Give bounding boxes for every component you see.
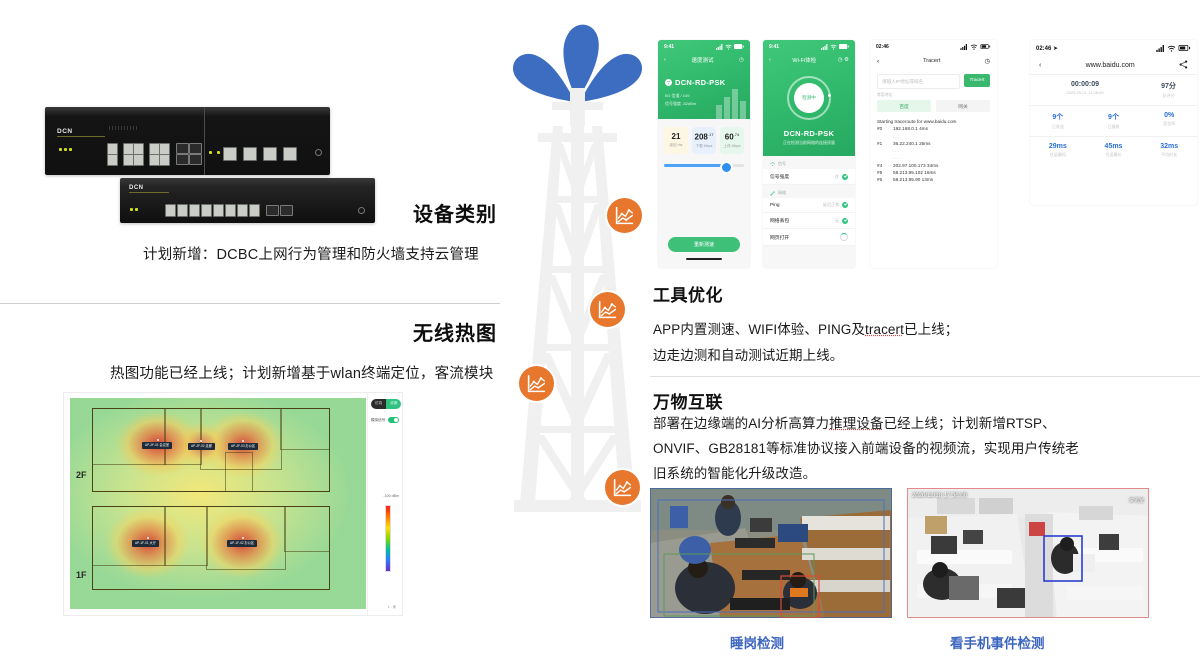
- chart-badge-icon-3: [519, 366, 554, 401]
- location-arrow-icon: ➤: [1053, 46, 1058, 52]
- photo-caption-sleep: 睡岗检测: [730, 632, 784, 652]
- section-title-wireless-heatmap: 无线热图: [413, 317, 497, 346]
- cell-value: 9个: [1032, 112, 1084, 122]
- row-value: 延迟正常: [823, 202, 839, 208]
- decorative-bars-icon: [716, 89, 746, 119]
- battery-icon: [734, 44, 744, 49]
- floor-label-2f: 2F: [76, 470, 87, 480]
- section-title-tools: 工具优化: [653, 281, 723, 306]
- slider-knob[interactable]: [720, 161, 733, 174]
- webtest-cell: 97分 总评分: [1140, 75, 1197, 105]
- status-icons: [1156, 45, 1191, 52]
- home-indicator: [686, 258, 723, 260]
- check-icon: [842, 202, 848, 208]
- hop-index: [877, 147, 888, 154]
- tools-line1-b: 已上线；: [904, 322, 958, 337]
- hop-text: ...: [893, 133, 900, 140]
- webtest-metrics-grid: 00:00:09 2023-09-21 14:26:09 97分 总评分 9个 …: [1030, 74, 1197, 164]
- cell-label: 2023-09-21 14:26:09: [1032, 90, 1138, 95]
- speedtest-progress-slider[interactable]: [664, 164, 744, 167]
- device-photo-firewall: DCN: [45, 107, 330, 175]
- signal-icon: [960, 44, 968, 50]
- wifi-icon: [725, 44, 732, 50]
- heatmap-legend-bar: [385, 505, 391, 572]
- status-bar: 02:46: [870, 40, 997, 53]
- cell-label: 往返最短: [1032, 152, 1084, 158]
- iot-line1-b: 已经上线；计划新增RTSP、: [884, 416, 1056, 431]
- office-cctv-image-2: [907, 488, 1149, 618]
- webtest-row: 29ms 往返最短 45ms 往返最长 32ms 平均时长: [1030, 136, 1197, 164]
- webtest-cell: 29ms 往返最短: [1030, 137, 1086, 164]
- cell-label: 已发送: [1032, 124, 1084, 130]
- battery-icon: [1178, 45, 1191, 51]
- tracert-run-button[interactable]: Tracert: [964, 74, 990, 87]
- floor-label-1f: 1F: [76, 570, 87, 580]
- right-divider: [650, 376, 1200, 377]
- signal-icon: [821, 44, 828, 50]
- webtest-row: 00:00:09 2023-09-21 14:26:09 97分 总评分: [1030, 74, 1197, 105]
- back-icon[interactable]: ‹: [1039, 62, 1041, 69]
- cell-label: 总评分: [1142, 93, 1195, 99]
- ring-status-text: 检测中: [794, 83, 824, 113]
- tracert-hop: ...: [877, 133, 990, 140]
- row-label: 网页打开: [770, 234, 789, 241]
- section-paragraph-device-category: 计划新增：DCBC上网行为管理和防火墙支持云管理: [143, 243, 479, 264]
- office-cctv-image-1: [650, 488, 892, 618]
- hop-text: ...: [893, 147, 900, 154]
- photo-caption-phone: 看手机事件检测: [950, 632, 1045, 652]
- history-icon[interactable]: ◷: [739, 57, 744, 63]
- link-small-icon: [770, 191, 775, 196]
- battery-icon: [839, 44, 849, 49]
- status-time: 02:46: [876, 44, 889, 50]
- status-icons: [960, 44, 991, 50]
- tracert-host-input[interactable]: 请输入IP地址或域名: [877, 74, 960, 89]
- chart-badge-icon-2: [590, 292, 625, 327]
- ap-tag: AP-1F-02 办公区: [227, 540, 257, 547]
- tools-line-2: 边走边测和自动测试近期上线。: [653, 344, 843, 364]
- status-time: 9:41: [769, 44, 779, 50]
- tracert-preset-tabs: 百度 网关: [877, 100, 990, 112]
- right-column: 9:41 ‹ 速度测试 ◷: [645, 0, 1200, 656]
- heatmap-screenshot: 2F AP-2F-01 会议室 AP-2F-02 走廊 AP-2F-03 办公区…: [63, 392, 403, 616]
- tracert-preset-label: 常用地址: [877, 93, 990, 98]
- history-icon[interactable]: ◷: [984, 57, 990, 65]
- iot-line1-a: 部署在边缘端的AI分析高算力: [653, 416, 829, 431]
- webtest-cell: 9个 已发送: [1030, 106, 1086, 136]
- signal-icon: [1156, 45, 1165, 52]
- share-icon[interactable]: [1179, 60, 1188, 71]
- back-icon[interactable]: ‹: [664, 57, 666, 63]
- cell-value: 45ms: [1088, 143, 1140, 150]
- row-label: 信号强度: [770, 173, 789, 180]
- metric-label: 上传 Mbps: [722, 144, 742, 149]
- heatmap-paragraph-text: 热图功能已经上线；计划新增基于wlan终端定位，客流模块: [110, 366, 493, 382]
- heatmap-signal-switch[interactable]: [388, 417, 399, 423]
- webtest-cell: 45ms 往返最长: [1086, 137, 1142, 164]
- hop-text: 58.213.95.102 16ms: [893, 169, 936, 176]
- wifi-icon: [1167, 45, 1176, 52]
- speedtest-title: 速度测试: [692, 56, 714, 64]
- photo-sleep-detection: [650, 488, 892, 618]
- webtest-cell: 32ms 平均时长: [1141, 137, 1197, 164]
- experience-row: 网络丢包 无: [763, 213, 855, 229]
- heatmap-sidebar: 仿真 实测 模拟信号 -100 dBm 1 : 米: [367, 393, 402, 615]
- status-icons: [821, 44, 849, 50]
- tracert-hop: ...: [877, 154, 990, 161]
- signal-icon: [716, 44, 723, 50]
- speedtest-navbar: ‹ 速度测试 ◷: [658, 53, 750, 67]
- tracert-preset-gateway[interactable]: 网关: [936, 100, 990, 112]
- wifi-badge-icon: [665, 73, 672, 91]
- heatmap-mode-simulated[interactable]: 仿真: [371, 399, 386, 409]
- row-value: 无: [835, 218, 839, 224]
- heatmap-legend-top-label: -100 dBm: [383, 494, 399, 498]
- heatmap-mode-toggle[interactable]: 仿真 实测: [371, 399, 401, 409]
- status-bar: 9:41: [763, 40, 855, 53]
- heatmap-canvas: 2F AP-2F-01 会议室 AP-2F-02 走廊 AP-2F-03 办公区…: [70, 398, 366, 609]
- group-label: 网络: [778, 190, 786, 196]
- hop-index: #5: [877, 169, 888, 176]
- hop-index: #4: [877, 162, 888, 169]
- row-label: Ping: [770, 203, 780, 208]
- battery-icon: [980, 44, 991, 49]
- tools-line1-link: tracert: [865, 322, 904, 337]
- tracert-log: Starting traceroute for www.baidu.com #0…: [877, 118, 990, 184]
- experience-progress-ring: 检测中: [763, 67, 855, 129]
- hop-text: 192.168.0.1 4ms: [893, 125, 928, 132]
- back-icon[interactable]: ‹: [877, 58, 879, 65]
- row-value: 优: [835, 174, 839, 180]
- speedtest-metric-cards: 21 延迟 ms 208.17 下载 Mbps 60.74 上传 Mbps: [658, 119, 750, 158]
- row-label: 网络丢包: [770, 217, 789, 224]
- experience-row: Ping 延迟正常: [763, 198, 855, 213]
- webtest-cell: 9个 已接收: [1086, 106, 1142, 136]
- device-photo-switch: DCN: [120, 178, 375, 223]
- metric-label: 下载 Mbps: [694, 144, 714, 149]
- hop-index: [877, 133, 888, 140]
- device2-brand-label: DCN: [129, 185, 144, 191]
- hop-text: ...: [893, 154, 900, 161]
- hop-text: 202.97.100.173 34ms: [893, 162, 938, 169]
- phone-web-test: 02:46 ➤ ‹ www.baidu.com: [1030, 40, 1197, 205]
- heatmap-signal-switch-label: 模拟信号: [371, 418, 385, 423]
- tracert-navbar: ‹ Tracert ◷: [870, 53, 997, 69]
- metric-label: 延迟 ms: [666, 143, 686, 148]
- left-column: DCN: [0, 0, 620, 656]
- speedtest-ssid: DCN-RD-PSK: [675, 78, 726, 87]
- left-divider: [0, 303, 500, 304]
- phone-mockups-row: 9:41 ‹ 速度测试 ◷: [650, 40, 1200, 268]
- tracert-hop: #4202.97.100.173 34ms: [877, 162, 990, 169]
- slide-root: DCN: [0, 0, 1200, 656]
- device-brand-label: DCN: [57, 128, 73, 135]
- experience-row: 网页打开: [763, 229, 855, 246]
- ap-tag: AP-2F-02 走廊: [188, 443, 215, 450]
- hop-index: #1: [877, 140, 888, 147]
- cell-value: 32ms: [1143, 143, 1195, 150]
- tracert-hop: #0192.168.0.1 4ms: [877, 125, 990, 132]
- webtest-row: 9个 已发送 9个 已接收 0% 丢包率: [1030, 105, 1197, 136]
- experience-header: 9:41 ‹ Wi-Fi体检 ◷ ⚙ 检测中: [763, 40, 855, 156]
- wifi-icon: [830, 44, 837, 50]
- section-title-iot: 万物互联: [653, 388, 723, 413]
- status-bar: 02:46 ➤: [1030, 40, 1197, 56]
- photo-timestamp: 2020/12/18 17:36:08: [912, 493, 967, 499]
- cell-value: 29ms: [1032, 143, 1084, 150]
- metric-card: 208.17 下载 Mbps: [692, 127, 716, 154]
- tools-line-1: APP内置测速、WIFI体验、PING及tracert已上线；: [653, 318, 958, 338]
- metric-card: 21 延迟 ms: [664, 127, 688, 154]
- metric-value: 208: [695, 133, 708, 142]
- back-icon[interactable]: ‹: [769, 57, 771, 63]
- webtest-navbar: ‹ www.baidu.com: [1030, 56, 1197, 74]
- hop-text: 36.22.240.1 26ms: [893, 140, 931, 147]
- speedtest-retest-button[interactable]: 重新测速: [668, 237, 740, 252]
- ap-tag: AP-2F-01 会议室: [142, 442, 172, 449]
- cell-value: 9个: [1088, 112, 1140, 122]
- hop-index: [877, 154, 888, 161]
- tracert-hop: #558.213.95.102 16ms: [877, 169, 990, 176]
- heatmap-scale-label: 1 : 米: [388, 604, 396, 609]
- phone-wifi-experience: 9:41 ‹ Wi-Fi体检 ◷ ⚙ 检测中: [763, 40, 855, 268]
- chart-badge-icon-1: [607, 198, 642, 233]
- experience-ssid: DCN-RD-PSK: [763, 129, 855, 138]
- wifi-icon: [970, 44, 978, 50]
- webtest-cell: 00:00:09 2023-09-21 14:26:09: [1030, 75, 1140, 105]
- metric-value: 60: [725, 133, 734, 142]
- group-label: 信号: [778, 161, 786, 167]
- speedtest-header: 9:41 ‹ 速度测试 ◷: [658, 40, 750, 119]
- check-icon: [842, 218, 848, 224]
- hop-index: #6: [877, 176, 888, 183]
- hop-index: #0: [877, 125, 888, 132]
- section-title-device-category: 设备类别: [413, 198, 497, 227]
- tracert-title: Tracert: [923, 58, 940, 64]
- phone-speedtest: 9:41 ‹ 速度测试 ◷: [658, 40, 750, 268]
- nav-actions[interactable]: ◷ ⚙: [838, 57, 849, 63]
- photo-corner-label: 资讯室: [1129, 497, 1144, 504]
- webtest-title: www.baidu.com: [1086, 62, 1135, 69]
- loading-icon: [840, 233, 848, 241]
- status-time: 9:41: [664, 44, 674, 50]
- iot-line1-link: 推理设备: [829, 416, 883, 431]
- metric-value: 21: [666, 132, 686, 141]
- cell-label: 往返最长: [1088, 152, 1140, 158]
- phone-tracert: 02:46 ‹ Tracert ◷ 请输入IP地址或域名 Tracert: [870, 40, 997, 268]
- cell-value: 97分: [1142, 81, 1195, 91]
- metric-unit: .17: [708, 132, 714, 137]
- tracert-hop: #658.213.95.90 13ms: [877, 176, 990, 183]
- cell-value: 0%: [1143, 112, 1195, 119]
- metric-card: 60.74 上传 Mbps: [720, 127, 744, 154]
- tools-line1-a: APP内置测速、WIFI体验、PING及: [653, 322, 865, 337]
- tracert-log-header: Starting traceroute for www.baidu.com: [877, 118, 990, 125]
- iot-line-1: 部署在边缘端的AI分析高算力推理设备已经上线；计划新增RTSP、: [653, 412, 1056, 432]
- photo-phone-usage-detection: 2020/12/18 17:36:08 资讯室: [907, 488, 1149, 618]
- hop-text: 58.213.95.90 13ms: [893, 176, 933, 183]
- status-time-location: 02:46 ➤: [1036, 45, 1058, 52]
- section-paragraph-wireless-heatmap: 热图功能已经上线；计划新增基于wlan终端定位，客流模块: [110, 362, 493, 383]
- tracert-hop: ...: [877, 147, 990, 154]
- cell-value: 00:00:09: [1032, 81, 1138, 88]
- tracert-input-row: 请输入IP地址或域名 Tracert: [877, 74, 990, 89]
- ap-tag: AP-2F-03 办公区: [228, 443, 258, 450]
- cell-label: 已接收: [1088, 124, 1140, 130]
- status-icons: [716, 44, 744, 50]
- chart-badge-icon-4: [605, 470, 640, 505]
- experience-title: Wi-Fi体检: [792, 56, 816, 64]
- webtest-cell: 0% 丢包率: [1141, 106, 1197, 136]
- experience-group-signal: 信号: [763, 156, 855, 169]
- experience-group-network: 网络: [763, 185, 855, 198]
- signal-small-icon: [770, 162, 775, 167]
- cell-label: 平均时长: [1143, 152, 1195, 158]
- check-icon: [842, 174, 848, 180]
- ap-tag: AP-1F-01 大厅: [132, 540, 159, 547]
- heatmap-mode-measured[interactable]: 实测: [386, 399, 401, 409]
- status-bar: 9:41: [658, 40, 750, 53]
- heatmap-signal-switch-row[interactable]: 模拟信号: [371, 417, 399, 423]
- cell-label: 丢包率: [1143, 121, 1195, 127]
- experience-navbar: ‹ Wi-Fi体检 ◷ ⚙: [763, 53, 855, 67]
- experience-row: 信号强度 优: [763, 169, 855, 185]
- metric-unit: .74: [734, 132, 740, 137]
- status-time: 02:46: [1036, 46, 1051, 52]
- tracert-hop: #136.22.240.1 26ms: [877, 140, 990, 147]
- tracert-preset-baidu[interactable]: 百度: [877, 100, 931, 112]
- iot-line-2: ONVIF、GB28181等标准协议接入前端设备的视频流，实现用户传统老: [653, 437, 1079, 457]
- iot-line-3: 旧系统的智能化升级改造。: [653, 462, 816, 482]
- experience-ssid-sub: 正在检测当前网络的连接质量: [763, 140, 855, 146]
